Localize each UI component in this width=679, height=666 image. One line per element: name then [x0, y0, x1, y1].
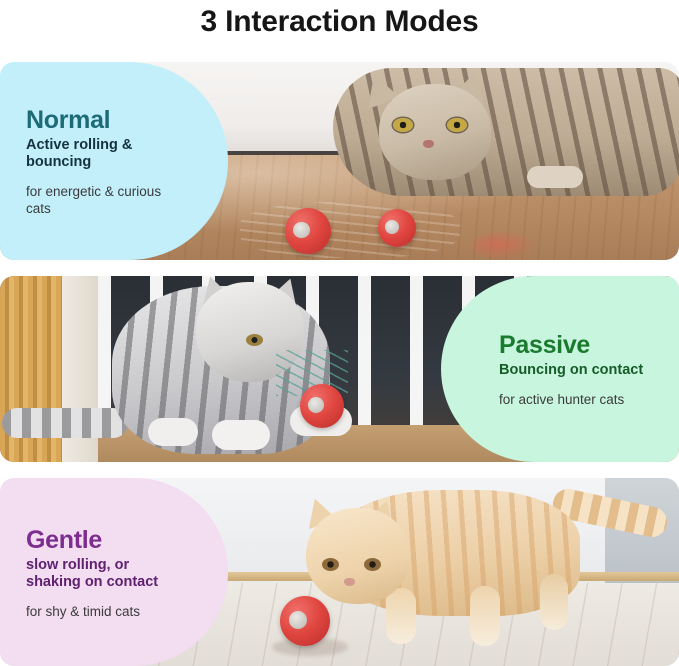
- mode-card-passive: Passive Bouncing on contact for active h…: [0, 276, 679, 462]
- mode-card-normal: Normal Active rolling & bouncing for ene…: [0, 62, 679, 260]
- interaction-modes-infographic: 3 Interaction Modes Normal Active rollin…: [0, 0, 679, 666]
- cat-eye-right: [447, 118, 467, 132]
- cat-eye-left: [322, 558, 339, 571]
- mode-description-passive: for active hunter cats: [499, 391, 653, 408]
- mode-card-gentle: Gentle slow rolling, or shaking on conta…: [0, 478, 679, 666]
- cat-paw: [148, 418, 198, 446]
- cat-nose: [423, 140, 434, 148]
- mode-title-passive: Passive: [499, 330, 653, 360]
- ginger-cat-head: [306, 508, 410, 604]
- cat-eye: [246, 334, 263, 346]
- mode-text-panel-normal: Normal Active rolling & bouncing for ene…: [0, 62, 228, 260]
- mode-text-panel-gentle: Gentle slow rolling, or shaking on conta…: [0, 478, 228, 666]
- red-ball-toy: [378, 209, 416, 247]
- cat-leg: [470, 586, 500, 646]
- cat-leg: [540, 574, 568, 630]
- mode-description-gentle: for shy & timid cats: [26, 603, 182, 620]
- red-ball-toy: [285, 208, 331, 254]
- cat-tail: [2, 408, 128, 438]
- mode-title-normal: Normal: [26, 105, 182, 135]
- red-ball-toy: [280, 596, 330, 646]
- page-title: 3 Interaction Modes: [0, 2, 679, 42]
- mode-subtitle-passive: Bouncing on contact: [499, 362, 653, 379]
- cat-eye-left: [393, 118, 413, 132]
- cat-leg: [386, 588, 416, 644]
- cat-paw: [527, 166, 583, 188]
- mode-text-panel-passive: Passive Bouncing on contact for active h…: [441, 276, 679, 462]
- mode-subtitle-gentle: slow rolling, or shaking on contact: [26, 557, 182, 591]
- mode-description-normal: for energetic & curious cats: [26, 183, 182, 217]
- motion-blur-streaks: [240, 202, 460, 258]
- red-ball-toy: [300, 384, 344, 428]
- cat-nose: [344, 578, 355, 586]
- cat-paw: [212, 420, 270, 450]
- mode-subtitle-normal: Active rolling & bouncing: [26, 137, 182, 171]
- cat-eye-right: [364, 558, 381, 571]
- ball-floor-reflection: [472, 232, 536, 260]
- mode-title-gentle: Gentle: [26, 525, 182, 555]
- tabby-cat-head: [379, 84, 491, 180]
